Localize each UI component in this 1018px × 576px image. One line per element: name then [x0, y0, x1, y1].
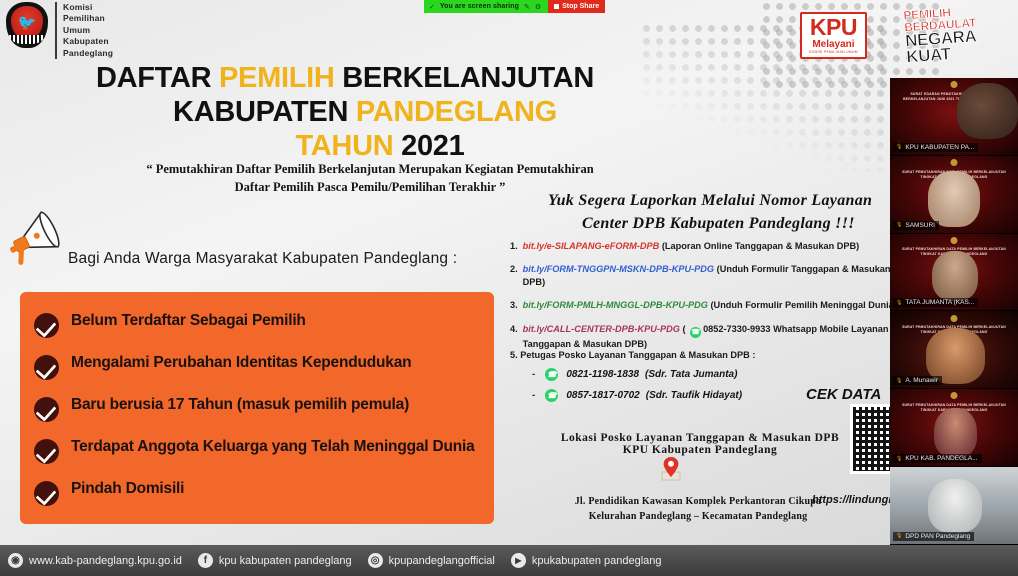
facebook-icon: f	[198, 553, 213, 568]
contact-name: (Sdr. Taufik Hidayat)	[646, 390, 742, 401]
petugas-heading: 5. Petugas Posko Layanan Tanggapan & Mas…	[510, 350, 910, 360]
call-to-action-heading: Yuk Segera Laporkan Melalui Nomor Layana…	[548, 190, 948, 235]
website-icon: ◉	[8, 553, 23, 568]
checklist-item-label: Terdapat Anggota Keluarga yang Telah Men…	[71, 438, 475, 455]
kpu-badge-big: KPU	[809, 16, 858, 39]
footer-label: kpukabupaten pandeglang	[532, 555, 662, 567]
pencil-icon[interactable]: ✎	[524, 3, 530, 11]
petugas-heading-label: Petugas Posko Layanan Tanggapan & Masuka…	[520, 350, 755, 360]
title-line-2: KABUPATEN PANDEGLANG	[0, 96, 690, 130]
link-url[interactable]: bit.ly/e-SILAPANG-eFORM-DPB	[523, 241, 660, 251]
footer-item-youtube[interactable]: ▶ kpukabupaten pandeglang	[509, 553, 676, 568]
link-phone: 0852-7330-9933	[703, 324, 770, 334]
link-paren-open: (	[682, 324, 688, 334]
check-circle-icon	[34, 313, 59, 338]
title-l3-b: 2021	[401, 130, 464, 162]
checklist-item-label: Belum Terdaftar Sebagai Pemilih	[71, 312, 306, 329]
logo-line-3: Umum	[63, 25, 113, 36]
slogan-block: PEMILIH BERDAULAT NEGARA KUAT	[903, 6, 979, 67]
map-pin-icon	[660, 455, 682, 486]
instagram-icon: ◎	[368, 553, 383, 568]
title-l1-b: PEMILIH	[219, 62, 335, 94]
kpu-badge-tiny: KOMISI PEMILIHAN UMUM	[809, 51, 858, 54]
footer-label: kpupandeglangofficial	[389, 555, 495, 567]
contact-phone: 0857-1817-0702	[566, 390, 639, 401]
video-tile[interactable]: SURAT PEMUTAKHIRAN DATA PEMILIH BERKELAN…	[890, 234, 1018, 312]
title-l1-a: DAFTAR	[96, 62, 219, 94]
check-circle-icon	[34, 439, 59, 464]
contact-phone: 0821-1198-1838	[566, 369, 639, 380]
microphone-icon: 🎙	[896, 222, 902, 228]
gear-icon[interactable]: ⚙	[535, 3, 541, 11]
video-tile[interactable]: SURAT PEMUTAKHIRAN DATA PEMILIH BERKELAN…	[890, 389, 1018, 467]
link-url[interactable]: bit.ly/CALL-CENTER-DPB-KPU-PDG	[523, 324, 680, 334]
microphone-icon: 🎙	[896, 300, 902, 306]
link-item: 2. bit.ly/FORM-TNGGPN-MSKN-DPB-KPU-PDG (…	[510, 263, 910, 288]
title-l3-a: TAHUN	[296, 130, 402, 162]
screen-share-toolbar: ✓ You are screen sharing ✎ ⚙ Stop Share	[424, 0, 605, 13]
checklist-item: Mengalami Perubahan Identitas Kependuduk…	[34, 354, 480, 380]
youtube-icon: ▶	[511, 553, 526, 568]
petugas-number: 5.	[510, 350, 518, 360]
footer-item-instagram[interactable]: ◎ kpupandeglangofficial	[366, 553, 509, 568]
whatsapp-icon: ☎	[545, 389, 558, 402]
contact-name: (Sdr. Tata Jumanta)	[645, 369, 737, 380]
checklist-item: Baru berusia 17 Tahun (masuk pemilih pem…	[34, 396, 480, 422]
logo-line-1: Komisi	[63, 2, 113, 13]
link-description: (Unduh Formulir Pemilih Meninggal Dunia)	[711, 300, 897, 310]
petugas-contact: - ☎ 0821-1198-1838 (Sdr. Tata Jumanta)	[510, 368, 910, 381]
social-footer-bar: ◉ www.kab-pandeglang.kpu.go.id f kpu kab…	[0, 545, 1018, 576]
participant-name-badge: 🎙 DPD PAN Pandeglang	[893, 532, 974, 541]
presentation-slide: ✓ You are screen sharing ✎ ⚙ Stop Share …	[0, 0, 1018, 576]
link-item: 3. bit.ly/FORM-PMLH-MNGGL-DPB-KPU-PDG (U…	[510, 299, 910, 311]
microphone-icon: 🎙	[896, 144, 902, 150]
cek-data-label: CEK DATA	[806, 386, 881, 403]
link-description: (Laporan Online Tanggapan & Masukan DPB)	[662, 241, 859, 251]
audience-line: Bagi Anda Warga Masyarakat Kabupaten Pan…	[68, 250, 457, 268]
checklist-item-label: Mengalami Perubahan Identitas Kependuduk…	[71, 354, 411, 371]
check-circle-icon	[34, 397, 59, 422]
checklist-item: Belum Terdaftar Sebagai Pemilih	[34, 312, 480, 338]
slogan-line-4: KUAT	[906, 45, 979, 66]
screen-sharing-label: You are screen sharing	[440, 3, 519, 10]
logo-line-5: Pandeglang	[63, 48, 113, 59]
footer-label: kpu kabupaten pandeglang	[219, 555, 352, 567]
link-number: 1.	[510, 240, 518, 252]
checklist-item-label: Pindah Domisili	[71, 480, 184, 497]
logo-line-2: Pemilihan	[63, 13, 113, 24]
participant-name-badge: 🎙 SAMSURI	[893, 221, 939, 230]
participant-name: A. Munawir	[905, 377, 938, 384]
quote-line-1: “ Pemutakhiran Daftar Pemilih Berkelanju…	[70, 160, 670, 178]
location-line-2: KPU Kabupaten Pandeglang	[500, 444, 900, 456]
participant-name-badge: 🎙 TATA JUMANTA (KAS...	[893, 298, 978, 307]
kpu-logo-text: Komisi Pemilihan Umum Kabupaten Pandegla…	[55, 2, 113, 59]
video-tile[interactable]: 🎙 DPD PAN Pandeglang	[890, 467, 1018, 545]
cta-line-2: Center DPB Kabupaten Pandeglang !!!	[548, 213, 948, 236]
microphone-icon: 🎙	[896, 533, 902, 539]
video-tile[interactable]: SURAT PEMUTAKHIRAN DATA PEMILIH BERKELAN…	[890, 311, 1018, 389]
page-title: DAFTAR PEMILIH BERKELANJUTAN KABUPATEN P…	[0, 62, 690, 164]
participant-name-badge: 🎙 A. Munawir	[893, 376, 942, 385]
location-line-1: Lokasi Posko Layanan Tanggapan & Masukan…	[500, 432, 900, 444]
kpu-emblem-icon: 🐦	[6, 2, 48, 48]
microphone-icon: 🎙	[896, 456, 902, 462]
link-url[interactable]: bit.ly/FORM-PMLH-MNGGL-DPB-KPU-PDG	[523, 300, 708, 310]
video-tile[interactable]: SURAT PEMUTAKHIRAN DATA PEMILIH BERKELAN…	[890, 156, 1018, 234]
participant-name-badge: 🎙 KPU KABUPATEN PA...	[893, 143, 978, 152]
stop-share-label: Stop Share	[562, 3, 599, 10]
title-l1-c: BERKELANJUTAN	[335, 62, 595, 94]
bullet-dash: -	[532, 369, 535, 380]
title-line-3: TAHUN 2021	[0, 130, 690, 164]
check-circle-icon	[34, 481, 59, 506]
address-line-2: Kelurahan Pandeglang – Kecamatan Pandegl…	[498, 509, 898, 524]
microphone-icon: 🎙	[896, 378, 902, 384]
title-l2-a: KABUPATEN	[173, 96, 356, 128]
kpu-badge-small: Melayani	[809, 40, 858, 50]
footer-label: www.kab-pandeglang.kpu.go.id	[29, 555, 182, 567]
check-icon: ✓	[429, 3, 435, 11]
link-item: 4. bit.ly/CALL-CENTER-DPB-KPU-PDG ( ☎085…	[510, 323, 910, 351]
video-participant-strip: SURAT EDARAN PEMUTAKHIRAN DATA PEMILIH B…	[890, 78, 1018, 545]
quote-text: “ Pemutakhiran Daftar Pemilih Berkelanju…	[70, 160, 670, 196]
footer-item-website[interactable]: ◉ www.kab-pandeglang.kpu.go.id	[6, 553, 196, 568]
whatsapp-icon: ☎	[545, 368, 558, 381]
logo-line-4: Kabupaten	[63, 36, 113, 47]
link-number: 2.	[510, 263, 518, 288]
bullet-dash: -	[532, 390, 535, 401]
location-heading: Lokasi Posko Layanan Tanggapan & Masukan…	[500, 432, 900, 456]
check-circle-icon	[34, 355, 59, 380]
participant-name: KPU KAB. PANDEGLA...	[905, 455, 977, 462]
kpu-logo-block: 🐦 Komisi Pemilihan Umum Kabupaten Pandeg…	[6, 2, 113, 59]
title-line-1: DAFTAR PEMILIH BERKELANJUTAN	[0, 62, 690, 96]
participant-name: DPD PAN Pandeglang	[905, 533, 970, 540]
participant-name-badge: 🎙 KPU KAB. PANDEGLA...	[893, 454, 982, 463]
megaphone-icon	[8, 208, 70, 268]
checklist-item: Terdapat Anggota Keluarga yang Telah Men…	[34, 438, 480, 464]
whatsapp-icon: ☎	[690, 327, 701, 338]
screen-sharing-status: ✓ You are screen sharing ✎ ⚙	[424, 0, 548, 13]
checklist-item-label: Baru berusia 17 Tahun (masuk pemilih pem…	[71, 396, 409, 413]
checklist-item: Pindah Domisili	[34, 480, 480, 506]
video-tile[interactable]: SURAT EDARAN PEMUTAKHIRAN DATA PEMILIH B…	[890, 78, 1018, 156]
quote-line-2: Daftar Pemilih Pasca Pemilu/Pemilihan Te…	[70, 178, 670, 196]
link-number: 3.	[510, 299, 518, 311]
checklist-panel: Belum Terdaftar Sebagai Pemilih Mengalam…	[20, 292, 494, 524]
participant-name: SAMSURI	[905, 222, 935, 229]
participant-name: TATA JUMANTA (KAS...	[905, 299, 974, 306]
link-item: 1. bit.ly/e-SILAPANG-eFORM-DPB (Laporan …	[510, 240, 910, 252]
participant-name: KPU KABUPATEN PA...	[905, 144, 974, 151]
kpu-melayani-badge: KPU Melayani KOMISI PEMILIHAN UMUM	[800, 12, 867, 59]
stop-square-icon	[554, 4, 559, 9]
footer-item-facebook[interactable]: f kpu kabupaten pandeglang	[196, 553, 366, 568]
link-number: 4.	[510, 323, 518, 351]
title-l2-b: PANDEGLANG	[356, 96, 557, 128]
links-list: 1. bit.ly/e-SILAPANG-eFORM-DPB (Laporan …	[510, 240, 910, 361]
link-url[interactable]: bit.ly/FORM-TNGGPN-MSKN-DPB-KPU-PDG	[523, 264, 714, 274]
stop-share-button[interactable]: Stop Share	[548, 0, 605, 13]
